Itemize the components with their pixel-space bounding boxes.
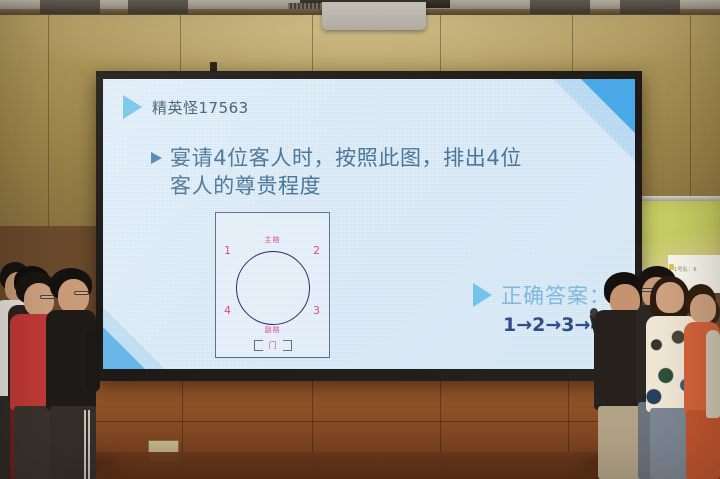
seat-number-1: 1	[224, 244, 231, 257]
head	[58, 279, 89, 313]
head	[690, 294, 716, 323]
corner-decor-top-right	[581, 79, 635, 133]
corner-decor-bottom-left	[103, 327, 145, 369]
slide-header: 精英怪17563	[123, 95, 249, 119]
seat-number-2: 2	[313, 244, 320, 257]
wall-seam	[48, 14, 49, 226]
led-display-frame: 精英怪17563 宴请4位客人时，按照此图，排出4位 客人的尊贵程度 主陪 副陪…	[96, 71, 642, 381]
seat-number-4: 4	[224, 304, 231, 317]
glasses-icon	[74, 291, 89, 295]
slide-bullet: 宴请4位客人时，按照此图，排出4位 客人的尊贵程度	[151, 145, 571, 200]
pant-stripe	[84, 410, 86, 479]
diagram-label-door: 门	[269, 340, 277, 351]
photo-scene: 1号队：6 精英怪17563 宴请4位客人时，按照此图，排出4位 客人的尊贵程度	[0, 0, 720, 479]
wall-seam	[690, 14, 691, 226]
bullet-text-container: 宴请4位客人时，按照此图，排出4位 客人的尊贵程度	[170, 145, 522, 200]
side-screen-text: 1号队：6	[674, 266, 697, 273]
ceiling-vent	[530, 0, 590, 14]
correct-answer-label: 正确答案：	[501, 280, 611, 310]
torso	[706, 330, 720, 418]
round-table-seating-diagram: 主陪 副陪 1 2 3 4 门	[215, 212, 330, 358]
diagram-door: 门	[254, 340, 292, 351]
bullet-line-2: 客人的尊贵程度	[170, 173, 522, 201]
diagram-label-deputy-host: 副陪	[265, 325, 281, 335]
ceiling-projector	[322, 2, 426, 30]
triangle-right-icon	[473, 283, 492, 307]
arrow-bullet-icon	[151, 152, 162, 164]
pant-stripe	[88, 410, 90, 479]
round-table-shape	[236, 251, 310, 325]
diagram-label-main-host: 主陪	[265, 235, 281, 245]
arm	[86, 330, 100, 392]
legs	[686, 410, 720, 479]
seat-number-3: 3	[313, 304, 320, 317]
correct-answer-block: 正确答案： 1→2→3→4	[473, 280, 611, 336]
door-bracket-left-icon	[254, 340, 263, 351]
bullet-line-1: 宴请4位客人时，按照此图，排出4位	[170, 145, 522, 173]
ceiling-vent	[620, 0, 680, 14]
page-title: 精英怪17563	[152, 97, 249, 118]
head	[656, 282, 684, 313]
ceiling-vent	[40, 0, 100, 14]
ceiling-vent	[128, 0, 188, 14]
door-bracket-right-icon	[283, 340, 292, 351]
led-display-screen[interactable]: 精英怪17563 宴请4位客人时，按照此图，排出4位 客人的尊贵程度 主陪 副陪…	[103, 79, 635, 369]
triangle-right-icon	[123, 95, 142, 119]
